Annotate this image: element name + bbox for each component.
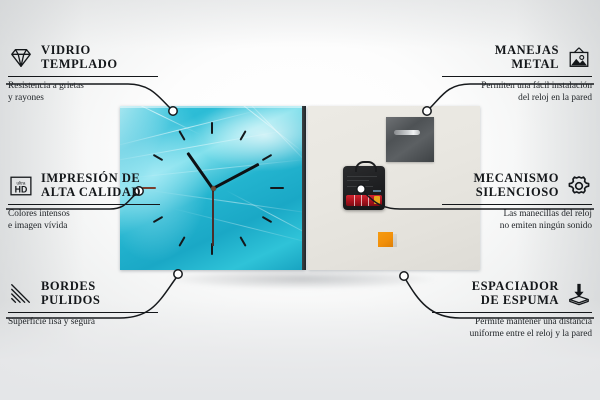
- feature-desc-line2: no emiten ningún sonido: [442, 221, 592, 232]
- polished-edges-icon: [8, 282, 34, 306]
- feature-header: ultra HD IMPRESIÓN DE ALTA CALIDAD: [8, 172, 160, 199]
- feature-desc-line2: uniforme entre el reloj y la pared: [432, 329, 592, 340]
- ultra-hd-icon: ultra HD: [8, 174, 34, 198]
- feature-header: MANEJAS METAL: [442, 44, 592, 71]
- feature-desc-line1: Las manecillas del reloj: [442, 209, 592, 220]
- feature-desc-line1: Permite mantener una distancia: [432, 317, 592, 328]
- feature-bordes-pulidos: BORDES PULIDOS Superficie lisa y segura: [8, 280, 158, 329]
- feature-title: BORDES PULIDOS: [41, 280, 100, 307]
- feature-divider: [8, 76, 158, 77]
- foam-spacer-icon: [566, 282, 592, 306]
- feature-desc-line1: Permiten una fácil instalación: [442, 81, 592, 92]
- feature-title-line2: METAL: [442, 58, 559, 72]
- gear-icon: [566, 174, 592, 198]
- feature-desc-line1: Resistencia a grietas: [8, 81, 158, 92]
- feature-description: Permiten una fácil instalación del reloj…: [442, 81, 592, 104]
- feature-description: Las manecillas del reloj no emiten ningú…: [442, 209, 592, 232]
- feature-title-line1: BORDES: [41, 280, 100, 294]
- connector-endpoint-bordes: [174, 270, 182, 278]
- diamond-icon: [8, 46, 34, 70]
- feature-manejas-metal: MANEJAS METAL Permiten una fácil instala…: [442, 44, 592, 104]
- connector-endpoint-vidrio-templado: [169, 107, 177, 115]
- feature-title-line2: PULIDOS: [41, 294, 100, 308]
- feature-divider: [442, 76, 592, 77]
- feature-espaciador-espuma: ESPACIADOR DE ESPUMA Permite mantener un…: [432, 280, 592, 340]
- feature-title-line2: DE ESPUMA: [432, 294, 559, 308]
- feature-header: ESPACIADOR DE ESPUMA: [432, 280, 592, 307]
- framed-picture-icon: [566, 46, 592, 70]
- feature-description: Resistencia a grietas y rayones: [8, 81, 158, 104]
- feature-divider: [432, 312, 592, 313]
- feature-divider: [8, 312, 158, 313]
- connector-endpoint-manejas: [423, 107, 431, 115]
- feature-desc-line1: Colores intensos: [8, 209, 160, 220]
- connector-endpoint-mecanismo: [357, 185, 365, 193]
- feature-desc-line2: y rayones: [8, 93, 158, 104]
- feature-title-line2: SILENCIOSO: [442, 186, 559, 200]
- feature-vidrio-templado: VIDRIO TEMPLADO Resistencia a grietas y …: [8, 44, 158, 104]
- feature-description: Superficie lisa y segura: [8, 317, 158, 328]
- feature-description: Permite mantener una distancia uniforme …: [432, 317, 592, 340]
- feature-header: BORDES PULIDOS: [8, 280, 158, 307]
- feature-title-line1: MANEJAS: [442, 44, 559, 58]
- svg-text:HD: HD: [15, 184, 28, 194]
- feature-title-line2: ALTA CALIDAD: [41, 186, 141, 200]
- feature-title-line1: ESPACIADOR: [432, 280, 559, 294]
- feature-title-line1: MECANISMO: [442, 172, 559, 186]
- feature-desc-line2: e imagen vívida: [8, 221, 160, 232]
- feature-divider: [442, 204, 592, 205]
- feature-title: MECANISMO SILENCIOSO: [442, 172, 559, 199]
- feature-title-line2: TEMPLADO: [41, 58, 118, 72]
- feature-title: MANEJAS METAL: [442, 44, 559, 71]
- feature-title-line1: VIDRIO: [41, 44, 118, 58]
- feature-title-line1: IMPRESIÓN DE: [41, 172, 141, 186]
- infographic-canvas: VIDRIO TEMPLADO Resistencia a grietas y …: [0, 0, 600, 400]
- feature-desc-line1: Superficie lisa y segura: [8, 317, 158, 328]
- feature-header: MECANISMO SILENCIOSO: [442, 172, 592, 199]
- feature-title: VIDRIO TEMPLADO: [41, 44, 118, 71]
- feature-header: VIDRIO TEMPLADO: [8, 44, 158, 71]
- feature-desc-line2: del reloj en la pared: [442, 93, 592, 104]
- feature-mecanismo-silencioso: MECANISMO SILENCIOSO Las manecillas del …: [442, 172, 592, 232]
- feature-impresion-alta-calidad: ultra HD IMPRESIÓN DE ALTA CALIDAD Color…: [8, 172, 160, 232]
- connector-endpoint-espaciador: [400, 272, 408, 280]
- feature-title: ESPACIADOR DE ESPUMA: [432, 280, 559, 307]
- feature-description: Colores intensos e imagen vívida: [8, 209, 160, 232]
- feature-divider: [8, 204, 160, 205]
- feature-title: IMPRESIÓN DE ALTA CALIDAD: [41, 172, 141, 199]
